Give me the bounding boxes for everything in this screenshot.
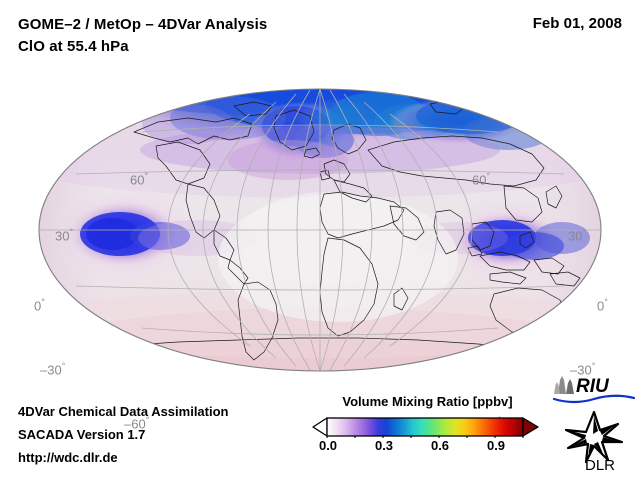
map-svg	[38, 88, 602, 372]
riu-logo: RIU	[552, 372, 636, 406]
footer-line-version: SACADA Version 1.7	[18, 423, 229, 446]
riu-towers-icon	[554, 376, 574, 394]
riu-wordmark: RIU	[576, 376, 610, 397]
header-date: Feb 01, 2008	[533, 15, 622, 32]
title-line-instrument: GOME–2 / MetOp – 4DVar Analysis	[18, 14, 267, 36]
colorbar-tick-2: 0.6	[431, 438, 449, 453]
footer-line-method: 4DVar Chemical Data Assimilation	[18, 400, 229, 423]
lat-label-30n-left: 30°	[55, 227, 73, 243]
colorbar-right-cap	[523, 418, 538, 436]
lat-label-30s-left: –30°	[40, 361, 65, 377]
lat-label-60n-right: 60°	[472, 171, 490, 187]
lat-label-30n-right: 30°	[568, 227, 586, 243]
mollweide-globe	[38, 88, 602, 372]
title-line-species: ClO at 55.4 hPa	[18, 36, 267, 58]
footer-line-url[interactable]: http://wdc.dlr.de	[18, 446, 229, 469]
colorbar: Volume Mixing Ratio [ppbv]	[310, 394, 545, 474]
colorbar-bar	[327, 418, 523, 436]
colorbar-tick-3: 0.9	[487, 438, 505, 453]
dlr-wordmark: DLR	[585, 457, 615, 472]
colorbar-left-cap	[313, 418, 327, 436]
colorbar-gradient	[310, 416, 545, 438]
colorbar-tick-0: 0.0	[319, 438, 337, 453]
lat-label-0-left: 0°	[34, 297, 45, 313]
page-title: GOME–2 / MetOp – 4DVar Analysis ClO at 5…	[18, 14, 267, 58]
colorbar-tick-1: 0.3	[375, 438, 393, 453]
lat-label-60n-left: 60°	[130, 171, 148, 187]
footer-credits: 4DVar Chemical Data Assimilation SACADA …	[18, 400, 229, 469]
dlr-logo: DLR	[560, 410, 636, 472]
lat-label-0-right: 0°	[597, 297, 608, 313]
colorbar-tick-labels: 0.0 0.3 0.6 0.9	[310, 438, 545, 458]
colorbar-title: Volume Mixing Ratio [ppbv]	[310, 394, 545, 409]
map-panel: 60° 30° 0° –30° –60° 60° 30° 0° –30° –60…	[0, 78, 640, 383]
